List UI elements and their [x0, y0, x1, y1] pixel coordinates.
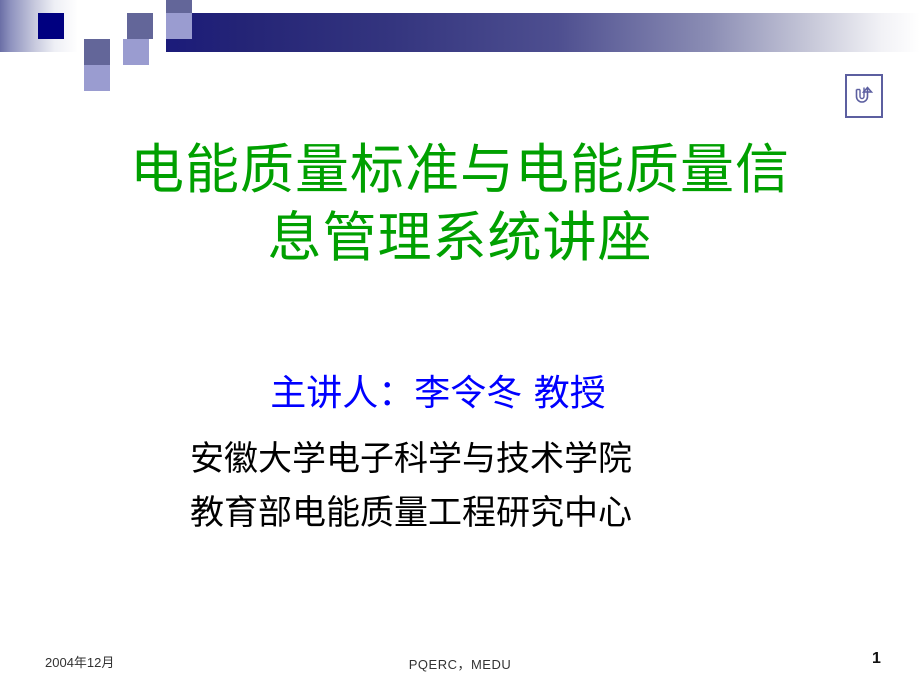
presenter-name: 主讲人：李令冬 教授	[270, 372, 605, 416]
title-line-1: 电能质量标准与电能质量信	[50, 136, 870, 204]
u-turn-arrow-icon	[852, 83, 876, 109]
slide-title: 电能质量标准与电能质量信 息管理系统讲座	[50, 136, 870, 272]
title-line-2: 息管理系统讲座	[50, 204, 870, 272]
decor-square-navy	[38, 13, 64, 39]
decor-header-gradient-bar	[166, 13, 920, 52]
decor-square-light-bottom	[84, 65, 110, 91]
decor-square-mid-lower	[84, 39, 110, 65]
slide-canvas: 电能质量标准与电能质量信 息管理系统讲座 主讲人：李令冬 教授 安徽大学电子科学…	[0, 0, 920, 690]
affiliation-block: 安徽大学电子科学与技术学院 教育部电能质量工程研究中心	[190, 432, 810, 540]
footer-organization: PQERC，MEDU	[0, 654, 920, 673]
decor-square-mid-left	[127, 13, 153, 39]
affiliation-line-1: 安徽大学电子科学与技术学院	[190, 432, 810, 486]
slide-page-number: 1	[872, 650, 881, 668]
decor-square-light-upper	[166, 13, 192, 39]
decor-square-light-lower	[123, 39, 149, 65]
return-button[interactable]	[845, 74, 883, 118]
presenter-block: 主讲人：李令冬 教授	[0, 372, 920, 416]
affiliation-line-2: 教育部电能质量工程研究中心	[190, 486, 810, 540]
